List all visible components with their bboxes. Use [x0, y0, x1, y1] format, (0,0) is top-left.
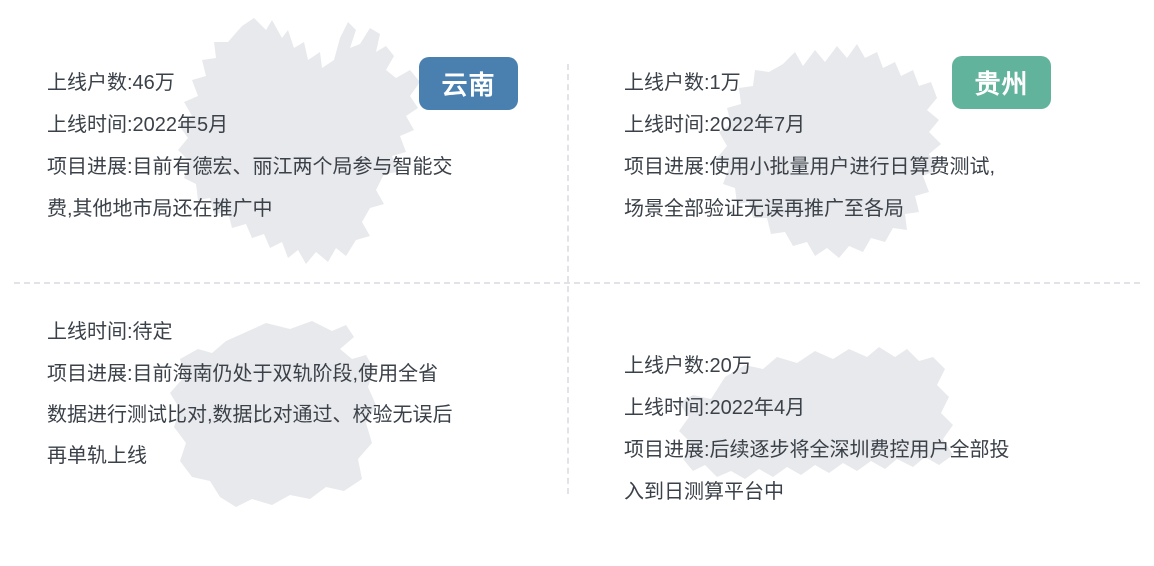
region-card-shenzhen: 深圳 上线户数:20万 上线时间:2022年4月 项目进展:后续逐步将全深圳费控…: [587, 283, 1154, 566]
hainan-line-3: 数据进行测试比对,数据比对通过、校验无误后: [47, 395, 453, 436]
region-card-hainan: 海南 上线时间:待定 项目进展:目前海南仍处于双轨阶段,使用全省 数据进行测试比…: [0, 283, 567, 566]
region-card-yunnan: 云南 上线户数:46万 上线时间:2022年5月 项目进展:目前有德宏、丽江两个…: [0, 0, 567, 283]
guizhou-detail-text: 上线户数:1万 上线时间:2022年7月 项目进展:使用小批量用户进行日算费测试…: [624, 62, 995, 230]
hainan-line-2: 项目进展:目前海南仍处于双轨阶段,使用全省: [47, 354, 453, 395]
guizhou-line-3: 项目进展:使用小批量用户进行日算费测试,: [624, 146, 995, 188]
shenzhen-detail-text: 上线户数:20万 上线时间:2022年4月 项目进展:后续逐步将全深圳费控用户全…: [624, 345, 1010, 513]
province-status-board: 云南 上线户数:46万 上线时间:2022年5月 项目进展:目前有德宏、丽江两个…: [0, 0, 1154, 566]
yunnan-detail-text: 上线户数:46万 上线时间:2022年5月 项目进展:目前有德宏、丽江两个局参与…: [47, 62, 453, 230]
hainan-line-4: 再单轨上线: [47, 436, 453, 477]
shenzhen-line-3: 项目进展:后续逐步将全深圳费控用户全部投: [624, 429, 1010, 471]
yunnan-line-3: 项目进展:目前有德宏、丽江两个局参与智能交: [47, 146, 453, 188]
yunnan-line-4: 费,其他地市局还在推广中: [47, 188, 453, 230]
vertical-dashed-divider: [567, 64, 569, 494]
guizhou-line-1: 上线户数:1万: [624, 62, 995, 104]
yunnan-line-1: 上线户数:46万: [47, 62, 453, 104]
guizhou-line-2: 上线时间:2022年7月: [624, 104, 995, 146]
yunnan-line-2: 上线时间:2022年5月: [47, 104, 453, 146]
shenzhen-line-1: 上线户数:20万: [624, 345, 1010, 387]
hainan-line-1: 上线时间:待定: [47, 312, 453, 353]
shenzhen-line-4: 入到日测算平台中: [624, 471, 1010, 513]
shenzhen-line-2: 上线时间:2022年4月: [624, 387, 1010, 429]
hainan-detail-text: 上线时间:待定 项目进展:目前海南仍处于双轨阶段,使用全省 数据进行测试比对,数…: [47, 312, 453, 477]
guizhou-line-4: 场景全部验证无误再推广至各局: [624, 188, 995, 230]
region-card-guizhou: 贵州 上线户数:1万 上线时间:2022年7月 项目进展:使用小批量用户进行日算…: [587, 0, 1154, 283]
